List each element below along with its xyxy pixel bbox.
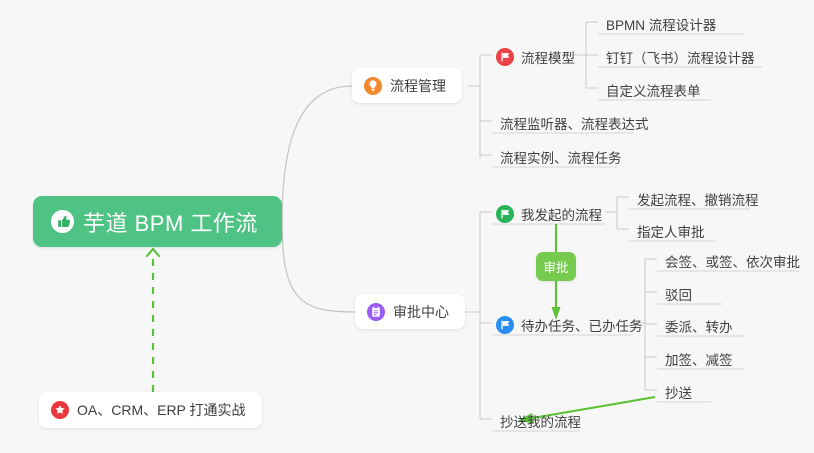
branch-approval-center[interactable]: 审批中心 xyxy=(355,294,465,329)
leaf-reject[interactable]: 驳回 xyxy=(657,281,702,309)
leaf-add-remove-sign[interactable]: 加签、减签 xyxy=(657,346,743,374)
flag-icon xyxy=(496,316,514,334)
leaf-carbon-copy[interactable]: 抄送 xyxy=(657,379,702,407)
clipboard-icon xyxy=(367,303,385,321)
subtopic-my-started-process[interactable]: 我发起的流程 xyxy=(492,201,610,228)
branch-process-management-label: 流程管理 xyxy=(390,76,446,96)
leaf-start-cancel-process[interactable]: 发起流程、撤销流程 xyxy=(629,186,769,214)
approve-badge-label: 审批 xyxy=(543,257,568,276)
leaf-process-instance-task[interactable]: 流程实例、流程任务 xyxy=(492,144,632,172)
leaf-countersign-orsign-sequential[interactable]: 会签、或签、依次审批 xyxy=(657,248,810,276)
leaf-dingtalk-feishu-designer[interactable]: 钉钉（飞书）流程设计器 xyxy=(598,44,765,72)
lightbulb-icon xyxy=(364,77,382,95)
leaf-assignee-approval[interactable]: 指定人审批 xyxy=(629,218,715,246)
integration-note-label: OA、CRM、ERP 打通实战 xyxy=(77,400,246,420)
root-node[interactable]: 芋道 BPM 工作流 xyxy=(33,196,282,247)
subtopic-todo-done-tasks[interactable]: 待办任务、已办任务 xyxy=(492,312,651,339)
leaf-process-listener-expression[interactable]: 流程监听器、流程表达式 xyxy=(492,110,659,138)
subtopic-todo-done-tasks-label: 待办任务、已办任务 xyxy=(521,315,643,335)
branch-process-management[interactable]: 流程管理 xyxy=(352,68,462,103)
subtopic-my-started-process-label: 我发起的流程 xyxy=(521,204,602,224)
leaf-cc-my-process[interactable]: 抄送我的流程 xyxy=(492,408,591,436)
root-label: 芋道 BPM 工作流 xyxy=(83,206,258,238)
mindmap-canvas[interactable]: 芋道 BPM 工作流 流程管理 流程模型 BPMN 流程设计器 钉钉（飞书）流程… xyxy=(0,0,814,453)
flag-icon xyxy=(496,205,514,223)
branch-approval-center-label: 审批中心 xyxy=(393,302,449,322)
subtopic-process-model[interactable]: 流程模型 xyxy=(492,44,583,71)
subtopic-process-model-label: 流程模型 xyxy=(521,47,575,67)
leaf-delegate-transfer[interactable]: 委派、转办 xyxy=(657,313,743,341)
flag-icon xyxy=(496,48,514,66)
approve-badge[interactable]: 审批 xyxy=(536,252,576,281)
integration-note-card[interactable]: OA、CRM、ERP 打通实战 xyxy=(39,392,262,428)
leaf-bpmn-designer[interactable]: BPMN 流程设计器 xyxy=(598,11,726,39)
star-icon xyxy=(51,401,69,419)
leaf-custom-process-form[interactable]: 自定义流程表单 xyxy=(598,77,711,105)
thumbs-up-icon xyxy=(51,210,74,233)
